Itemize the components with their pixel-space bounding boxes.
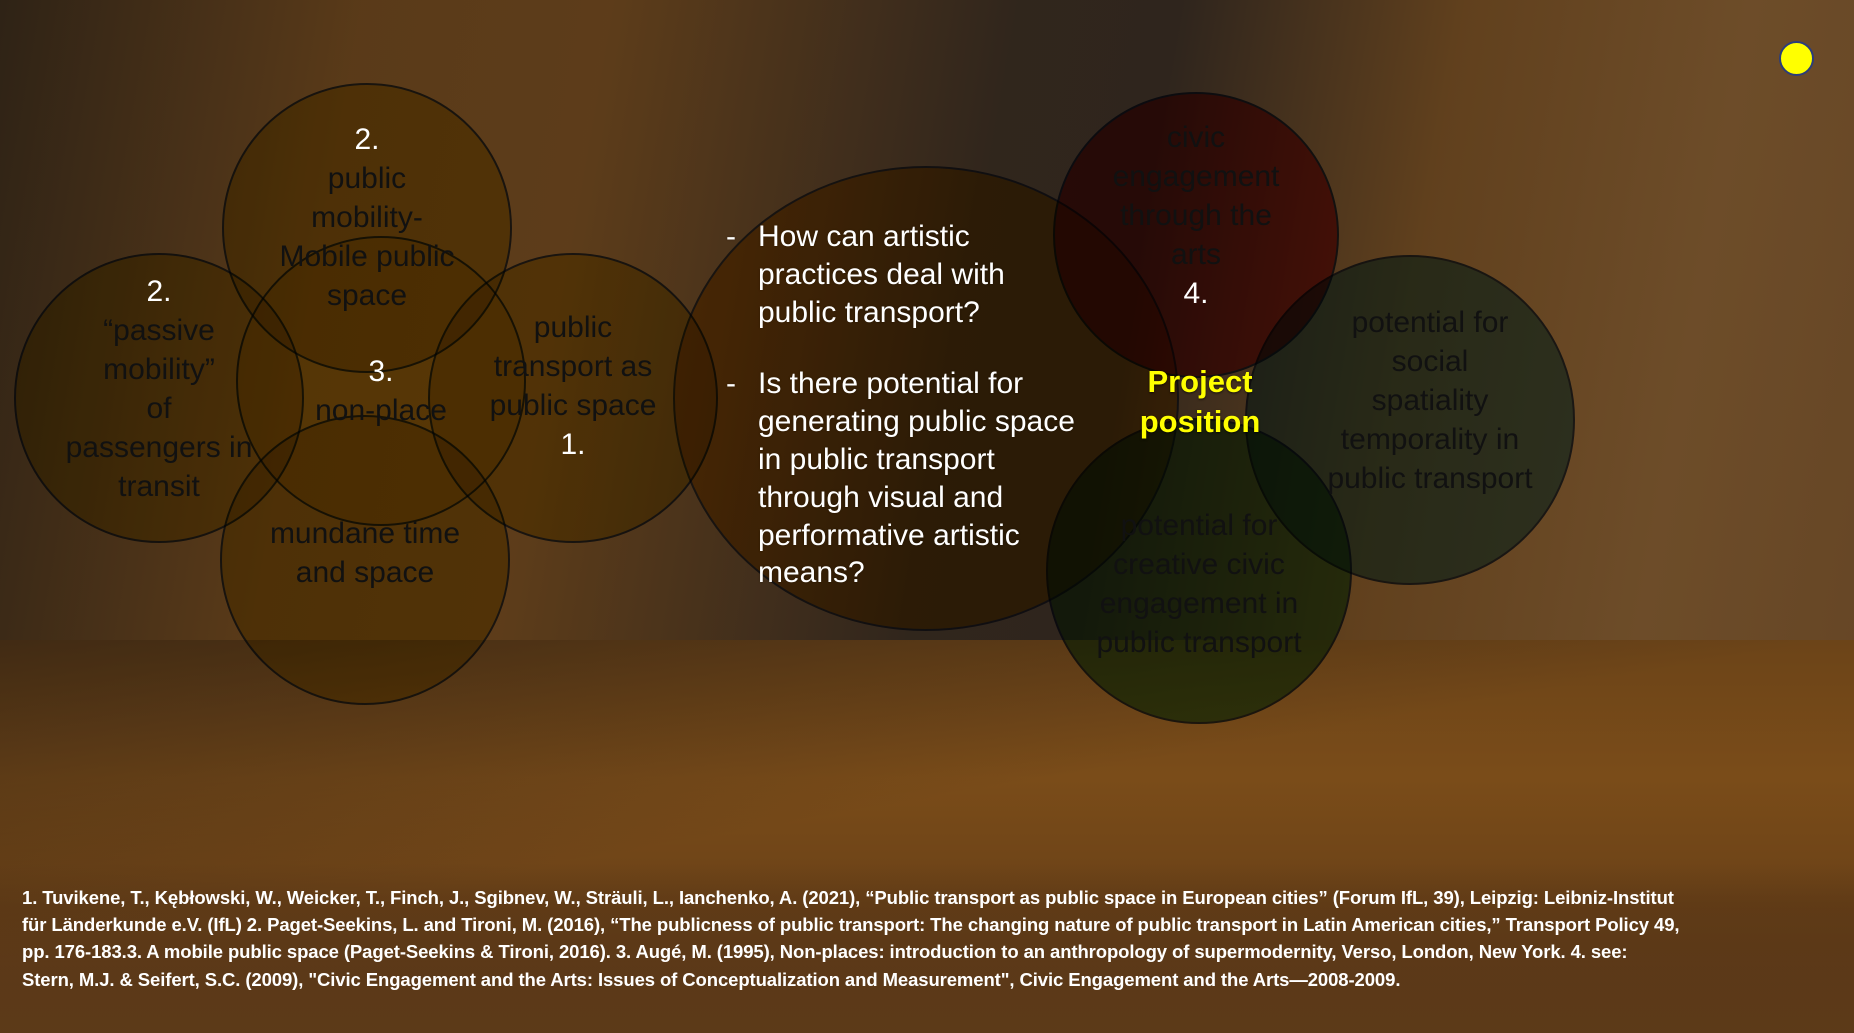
slide-canvas: 2. public mobility- Mobile public space … xyxy=(0,0,1854,1033)
research-questions-text: - How can artistic practices deal with p… xyxy=(726,218,1086,592)
question-row-1: - How can artistic practices deal with p… xyxy=(726,218,1086,331)
yellow-marker-dot[interactable] xyxy=(1779,41,1814,76)
question-row-2: - Is there potential for generating publ… xyxy=(726,365,1086,592)
question-dash-2: - xyxy=(726,365,736,592)
footnotes: 1. Tuvikene, T., Kębłowski, W., Weicker,… xyxy=(22,884,1840,993)
bubble-mundane-time-and-space[interactable] xyxy=(220,415,510,705)
footnote-line-4: Stern, M.J. & Seifert, S.C. (2009), "Civ… xyxy=(22,966,1840,993)
question-1: How can artistic practices deal with pub… xyxy=(758,218,1086,331)
question-spacer xyxy=(726,331,1086,365)
bubble-creative-civic-engagement[interactable] xyxy=(1046,418,1352,724)
footnote-line-2: für Länderkunde e.V. (IfL) 2. Paget-Seek… xyxy=(22,911,1840,938)
question-dash-1: - xyxy=(726,218,736,331)
footnote-line-3: pp. 176-183.3. A mobile public space (Pa… xyxy=(22,938,1840,965)
question-2: Is there potential for generating public… xyxy=(758,365,1086,592)
footnote-line-1: 1. Tuvikene, T., Kębłowski, W., Weicker,… xyxy=(22,884,1840,911)
